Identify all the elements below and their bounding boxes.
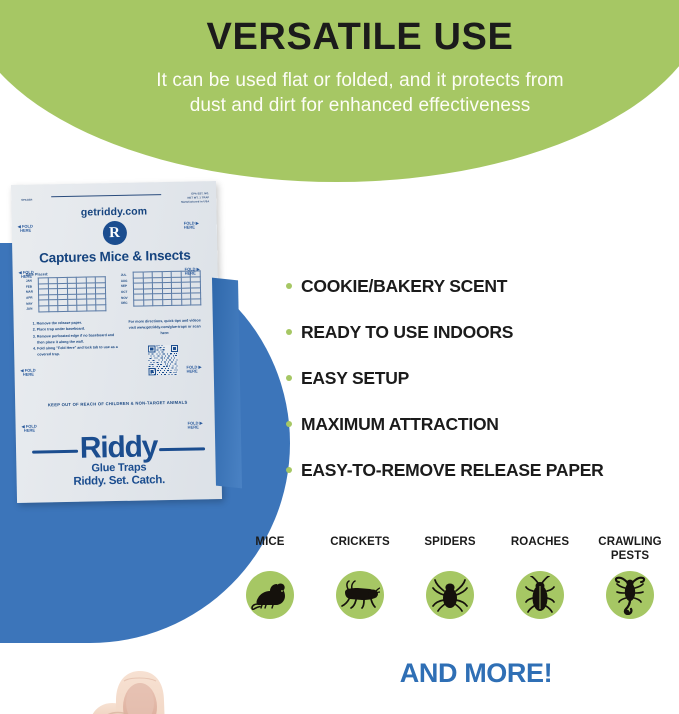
list-item: EASY-TO-REMOVE RELEASE PAPER (286, 447, 670, 493)
grid-row-label: JUN (26, 306, 39, 312)
pest-item-crickets: CRICKETS (318, 535, 402, 619)
bullet-dot-icon (286, 283, 292, 289)
list-item: COOKIE/BAKERY SCENT (286, 263, 670, 309)
card-instructions: Remove the release paper. Place trap und… (32, 319, 121, 358)
fold-mark-icon: FOLD ▶HERE (186, 365, 201, 374)
pest-label: ROACHES (498, 535, 582, 565)
bullet-label: MAXIMUM ATTRACTION (301, 414, 499, 435)
card-micro-text-right: EPA EST. NO.NET WT. 1 TRAPManufactured i… (161, 192, 209, 204)
fold-mark-icon: ◀ FOLD HERE (20, 369, 35, 378)
trap-folded-edge (212, 278, 242, 489)
product-photo-group: SPACER EPA EST. NO.NET WT. 1 TRAPManufac… (8, 183, 248, 714)
pest-icon-circle (246, 571, 294, 619)
card-warning-text: KEEP OUT OF REACH OF CHILDREN & NON-TARG… (15, 399, 220, 408)
pest-label: MICE (228, 535, 312, 565)
fold-mark-icon: ◀ FOLD HERE (18, 225, 33, 234)
scorpion-icon (614, 575, 646, 615)
bullet-label: COOKIE/BAKERY SCENT (301, 276, 507, 297)
bullet-dot-icon (286, 467, 292, 473)
spider-icon (432, 578, 468, 612)
infographic-canvas: VERSATILE USE It can be used flat or fol… (0, 0, 679, 714)
pest-item-crawling-pests: CRAWLING PESTS (588, 535, 672, 619)
date-grid-table: JUL AUG SEP OCT NOV DEC (121, 270, 201, 306)
mouse-icon (251, 580, 289, 610)
pest-icon-circle (516, 571, 564, 619)
header-text-group: VERSATILE USE It can be used flat or fol… (150, 18, 570, 118)
card-rule (51, 194, 161, 197)
card-website-url: getriddy.com (11, 204, 216, 220)
hand-holding-trap (18, 671, 236, 714)
card-micro-text-left: SPACER (21, 199, 32, 203)
qr-code-icon (148, 345, 179, 376)
grid-row-label: DEC (121, 300, 134, 306)
fold-mark-icon: FOLD ▶HERE (184, 221, 199, 230)
date-grid-left: Date Placed: JAN FEB MAR APR MAY JUN (26, 271, 106, 312)
brand-tagline: Riddy. Set. Catch. (17, 473, 222, 489)
card-more-info: For more directions, quick tips and vide… (126, 317, 204, 337)
pest-item-spiders: SPIDERS (408, 535, 492, 619)
feature-bullet-list: COOKIE/BAKERY SCENT READY TO USE INDOORS… (286, 263, 670, 493)
card-branding: Riddy Glue Traps Riddy. Set. Catch. (16, 431, 222, 489)
glue-trap-card: SPACER EPA EST. NO.NET WT. 1 TRAPManufac… (11, 181, 222, 503)
pest-icon-circle (606, 571, 654, 619)
bullet-dot-icon (286, 329, 292, 335)
instruction-step: Fold along "Fold Here" and lock tab to u… (37, 344, 120, 358)
and-more-text: AND MORE! (286, 658, 666, 689)
list-item: EASY SETUP (286, 355, 670, 401)
pest-label: CRAWLING PESTS (588, 535, 672, 565)
pest-item-roaches: ROACHES (498, 535, 582, 619)
cricket-icon (340, 580, 380, 610)
bullet-label: EASY SETUP (301, 368, 409, 389)
bullet-label: READY TO USE INDOORS (301, 322, 513, 343)
pest-type-row: MICE CRICKETS (228, 535, 672, 619)
list-item: READY TO USE INDOORS (286, 309, 670, 355)
pest-icon-circle (426, 571, 474, 619)
fold-mark-icon: FOLD ▶HERE (188, 421, 203, 430)
list-item: MAXIMUM ATTRACTION (286, 401, 670, 447)
page-title: VERSATILE USE (150, 18, 570, 58)
date-grid-right: JUL AUG SEP OCT NOV DEC (121, 269, 201, 306)
bullet-label: EASY-TO-REMOVE RELEASE PAPER (301, 460, 604, 481)
bullet-dot-icon (286, 375, 292, 381)
riddy-logo-icon: R (102, 221, 126, 245)
fold-mark-icon: ◀ FOLD HERE (22, 425, 37, 434)
pest-label: SPIDERS (408, 535, 492, 565)
roach-icon (525, 576, 555, 614)
pest-label: CRICKETS (318, 535, 402, 565)
date-grid-table: JAN FEB MAR APR MAY JUN (26, 276, 106, 312)
card-headline: Captures Mice & Insects (12, 247, 217, 266)
pest-item-mice: MICE (228, 535, 312, 619)
page-subtitle: It can be used flat or folded, and it pr… (150, 68, 570, 119)
pest-icon-circle (336, 571, 384, 619)
bullet-dot-icon (286, 421, 292, 427)
